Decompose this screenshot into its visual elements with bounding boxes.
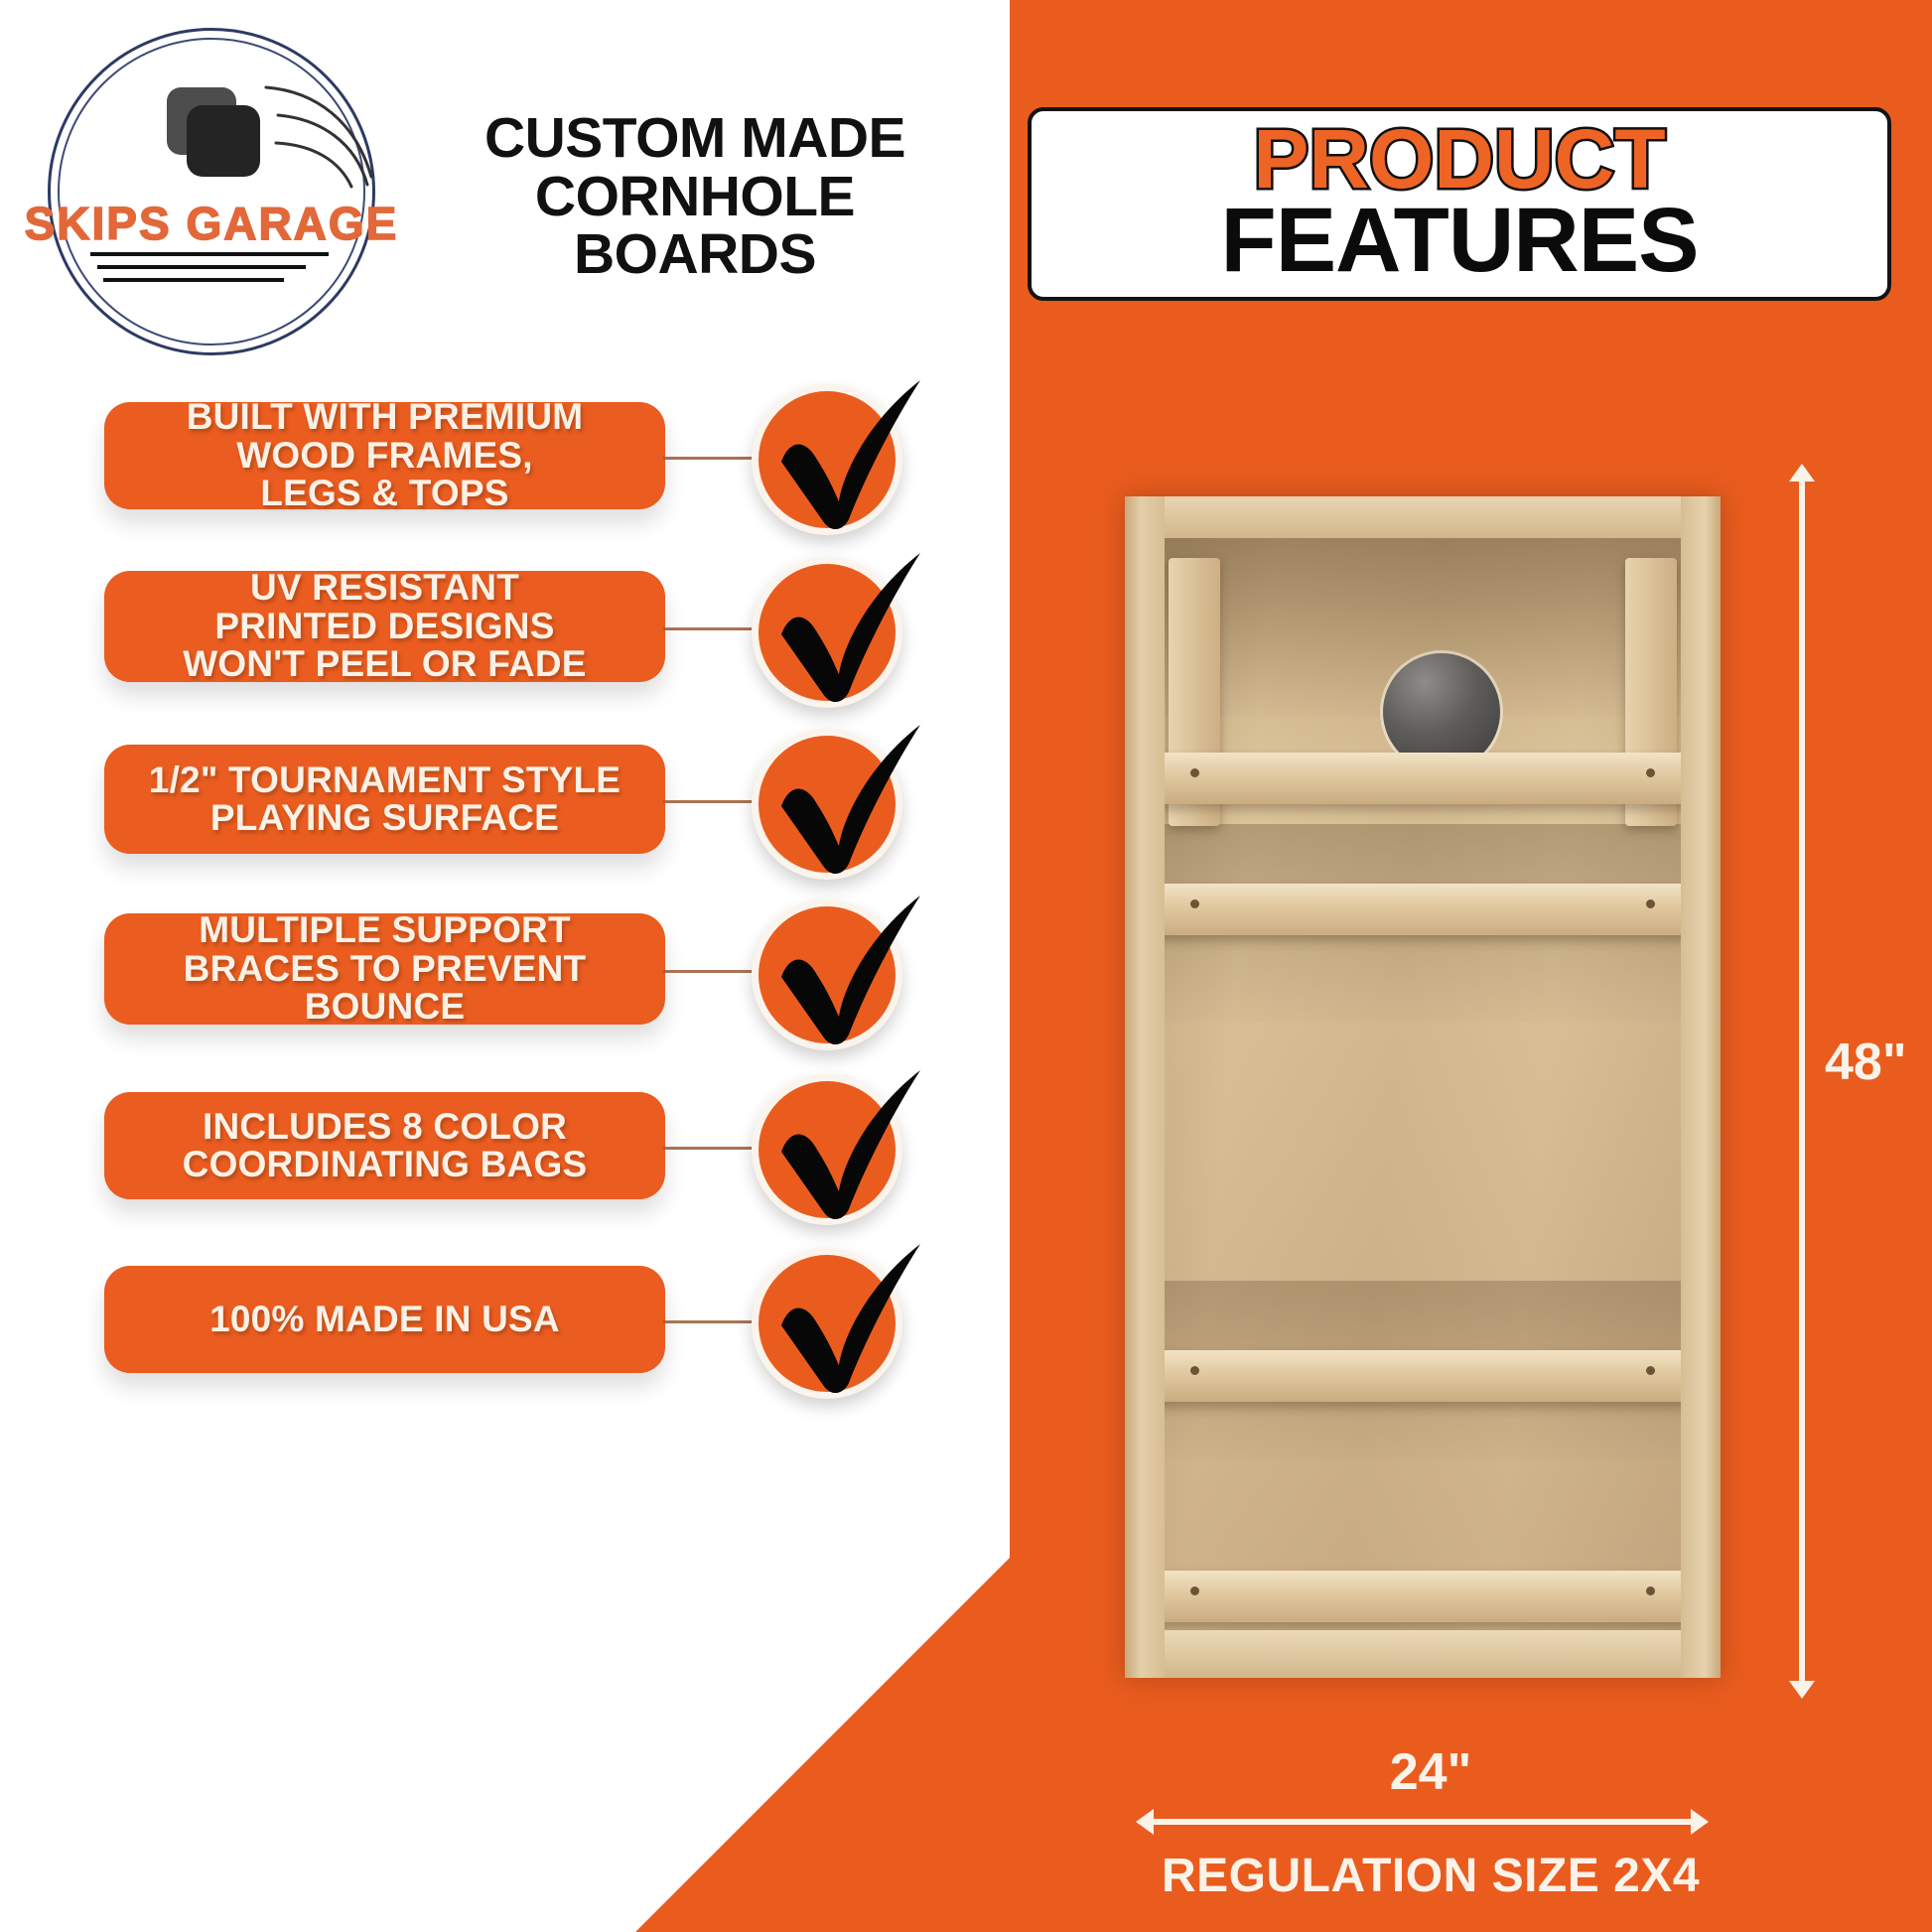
check-mark-icon <box>752 1074 902 1225</box>
feature-text-line: LEGS & TOPS <box>187 475 584 512</box>
feature-text-line: COORDINATING BAGS <box>183 1146 588 1183</box>
check-mark-icon <box>752 1248 902 1399</box>
feature-row: UV RESISTANT PRINTED DESIGNS WON'T PEEL … <box>0 571 1003 720</box>
page-title: CUSTOM MADE CORNHOLE BOARDS <box>387 109 1003 284</box>
feature-row: MULTIPLE SUPPORT BRACES TO PREVENT BOUNC… <box>0 913 1003 1062</box>
support-brace <box>1147 753 1699 804</box>
feature-text-line: 1/2" TOURNAMENT STYLE <box>149 761 621 799</box>
regulation-note: REGULATION SIZE 2X4 <box>1162 1849 1700 1903</box>
height-dimension-label: 48" <box>1825 1033 1907 1092</box>
width-dimension-label-wrap: 24" <box>0 1742 1932 1802</box>
page-title-line-3: BOARDS <box>387 225 1003 284</box>
heading-word-features: FEATURES <box>1032 196 1887 285</box>
regulation-note-wrap: REGULATION SIZE 2X4 <box>0 1849 1932 1903</box>
feature-row: 100% MADE IN USA <box>0 1266 1003 1415</box>
motion-lines-icon <box>260 81 379 191</box>
cornhole-board-photo <box>1125 496 1721 1678</box>
check-mark-icon <box>752 384 902 535</box>
page-title-line-2: CORNHOLE <box>387 168 1003 226</box>
feature-text-line: WOOD FRAMES, <box>187 437 584 475</box>
support-brace <box>1147 884 1699 935</box>
feature-text-line: BOUNCE <box>184 988 587 1026</box>
logo-underline-rules <box>75 252 344 291</box>
board-frame-left <box>1125 496 1165 1678</box>
page-title-line-1: CUSTOM MADE <box>387 109 1003 168</box>
product-features-heading-box: PRODUCT FEATURES <box>1028 107 1891 301</box>
width-dimension-label: 24" <box>1390 1742 1472 1802</box>
board-frame-right <box>1681 496 1721 1678</box>
board-frame-top <box>1125 496 1721 538</box>
infographic-canvas: SKIPS GARAGE CUSTOM MADE CORNHOLE BOARDS… <box>0 0 1932 1932</box>
feature-text-line: MULTIPLE SUPPORT <box>184 911 587 949</box>
logo-wordmark: SKIPS GARAGE <box>22 197 401 250</box>
feature-text-line: PRINTED DESIGNS <box>183 608 586 645</box>
feature-pill[interactable]: BUILT WITH PREMIUM WOOD FRAMES, LEGS & T… <box>104 402 665 509</box>
support-brace <box>1147 1571 1699 1622</box>
height-dimension-arrow <box>1799 480 1805 1683</box>
feature-text-line: INCLUDES 8 COLOR <box>183 1108 588 1146</box>
width-dimension-arrow <box>1152 1819 1693 1825</box>
feature-pill[interactable]: UV RESISTANT PRINTED DESIGNS WON'T PEEL … <box>104 571 665 682</box>
feature-pill[interactable]: INCLUDES 8 COLOR COORDINATING BAGS <box>104 1092 665 1199</box>
brand-logo: SKIPS GARAGE <box>22 18 389 375</box>
stacked-squares-front-icon <box>187 105 260 177</box>
feature-text-line: WON'T PEEL OR FADE <box>183 645 586 683</box>
feature-pill[interactable]: 100% MADE IN USA <box>104 1266 665 1373</box>
support-brace <box>1147 1350 1699 1402</box>
feature-text-line: BRACES TO PREVENT <box>184 950 587 988</box>
check-mark-icon <box>752 729 902 880</box>
heading-word-product: PRODUCT <box>1032 119 1887 200</box>
feature-pill[interactable]: MULTIPLE SUPPORT BRACES TO PREVENT BOUNC… <box>104 913 665 1025</box>
board-frame-bottom <box>1125 1630 1721 1678</box>
feature-text-line: UV RESISTANT <box>183 569 586 607</box>
feature-text-line: 100% MADE IN USA <box>209 1301 560 1338</box>
feature-pill[interactable]: 1/2" TOURNAMENT STYLE PLAYING SURFACE <box>104 745 665 854</box>
check-mark-icon <box>752 899 902 1050</box>
feature-text-line: PLAYING SURFACE <box>149 799 621 837</box>
feature-text-line: BUILT WITH PREMIUM <box>187 398 584 436</box>
check-mark-icon <box>752 557 902 708</box>
